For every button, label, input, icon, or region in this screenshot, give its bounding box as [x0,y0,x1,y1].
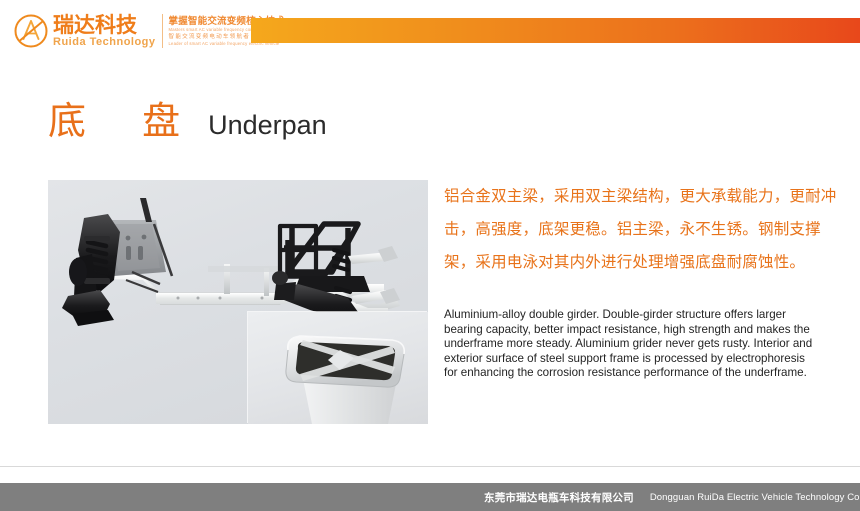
footer-company-en: Dongguan RuiDa Electric Vehicle Technolo… [650,492,860,503]
logo-divider [162,14,163,48]
logo-company-cn: 瑞达科技 [53,14,156,36]
header-gradient-bar [251,18,860,43]
logo-wordmark: 瑞达科技 Ruida Technology [53,14,156,49]
description-english: Aluminium-alloy double girder. Double-gi… [444,308,816,381]
description-chinese: 铝合金双主梁，采用双主梁结构，更大承载能力，更耐冲击，高强度，底架更稳。铝主梁，… [444,180,844,279]
slide-footer: 东莞市瑞达电瓶车科技有限公司 Dongguan RuiDa Electric V… [0,483,860,511]
footer-company-cn: 东莞市瑞达电瓶车科技有限公司 [484,490,634,505]
page-title-en: Underpan [208,104,327,146]
beam-cross-section-inset [248,312,428,424]
logo-company-en: Ruida Technology [53,36,156,49]
ruida-circular-a-logo-icon [13,13,49,49]
slide-header: 瑞达科技 Ruida Technology 掌握智能交流变频核心技术 Maste… [0,0,860,60]
page-title: 底 盘 Underpan [48,100,327,146]
chassis-photo [48,180,428,424]
company-logo: 瑞达科技 Ruida Technology 掌握智能交流变频核心技术 Maste… [13,10,285,52]
footer-company-block: 东莞市瑞达电瓶车科技有限公司 Dongguan RuiDa Electric V… [484,483,860,511]
slide-underpan: 瑞达科技 Ruida Technology 掌握智能交流变频核心技术 Maste… [0,0,860,511]
page-title-cn: 底 盘 [48,100,202,142]
footer-divider [0,466,860,467]
